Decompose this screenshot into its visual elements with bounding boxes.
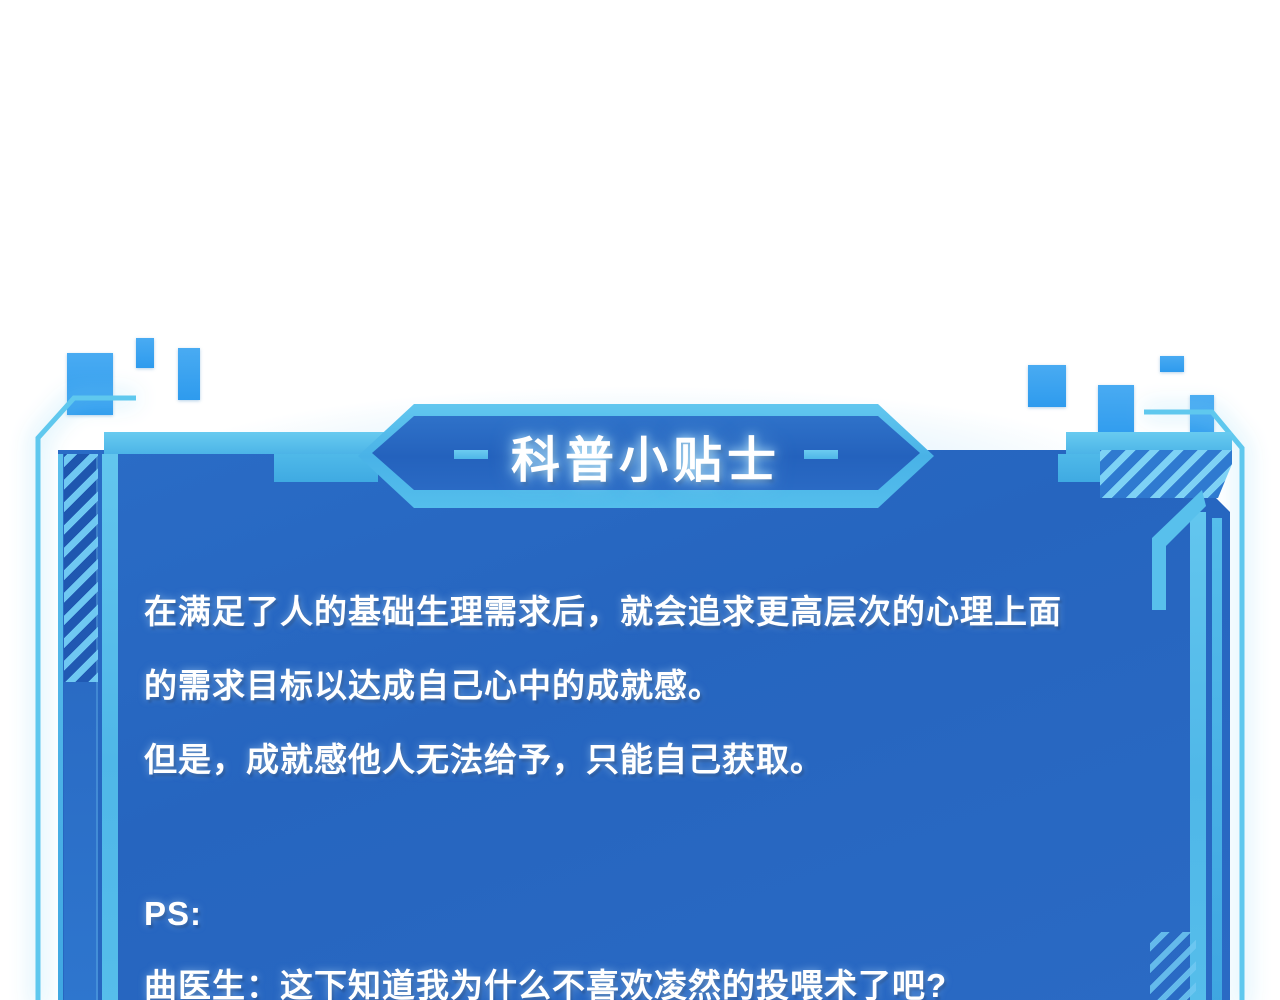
tip-content: 在满足了人的基础生理需求后，就会追求更高层次的心理上面 的需求目标以达成自己心中… <box>144 575 1144 1000</box>
paragraph-line-1: 在满足了人的基础生理需求后，就会追求更高层次的心理上面 <box>144 575 1144 649</box>
left-rail-edge <box>102 454 118 1000</box>
banner-title-text: 科普小贴士 <box>358 404 934 508</box>
chip-right-square <box>1028 365 1066 407</box>
left-rail-thin-line <box>58 454 63 1000</box>
ps-line-1: 曲医生：这下知道我为什么不喜欢凌然的投喂术了吧? <box>144 949 1144 1000</box>
chip-left-tall <box>178 348 200 400</box>
left-rail-hatch <box>64 454 98 682</box>
paragraph-line-3: 但是，成就感他人无法给予，只能自己获取。 <box>144 723 1144 797</box>
right-rail-edge <box>1190 512 1206 1000</box>
top-right-hatch-band <box>1100 450 1232 498</box>
chip-right-tiny <box>1160 356 1184 372</box>
comic-panel-stage: 科普小贴士 在满足了人的基础生理需求后，就会追求更高层次的心理上面 的需求目标以… <box>0 0 1280 1000</box>
top-white-area <box>0 0 1280 400</box>
paragraph-line-2: 的需求目标以达成自己心中的成就感。 <box>144 649 1144 723</box>
title-banner: 科普小贴士 <box>358 404 934 508</box>
right-rail-lower-hatch <box>1150 932 1196 1000</box>
right-rail-thin-line <box>1212 518 1222 1000</box>
ps-label: PS: <box>144 879 1144 949</box>
left-rail-lower <box>64 682 98 1000</box>
content-spacer <box>144 797 1144 879</box>
chip-left-small <box>136 338 154 368</box>
chip-left-large <box>67 353 113 415</box>
